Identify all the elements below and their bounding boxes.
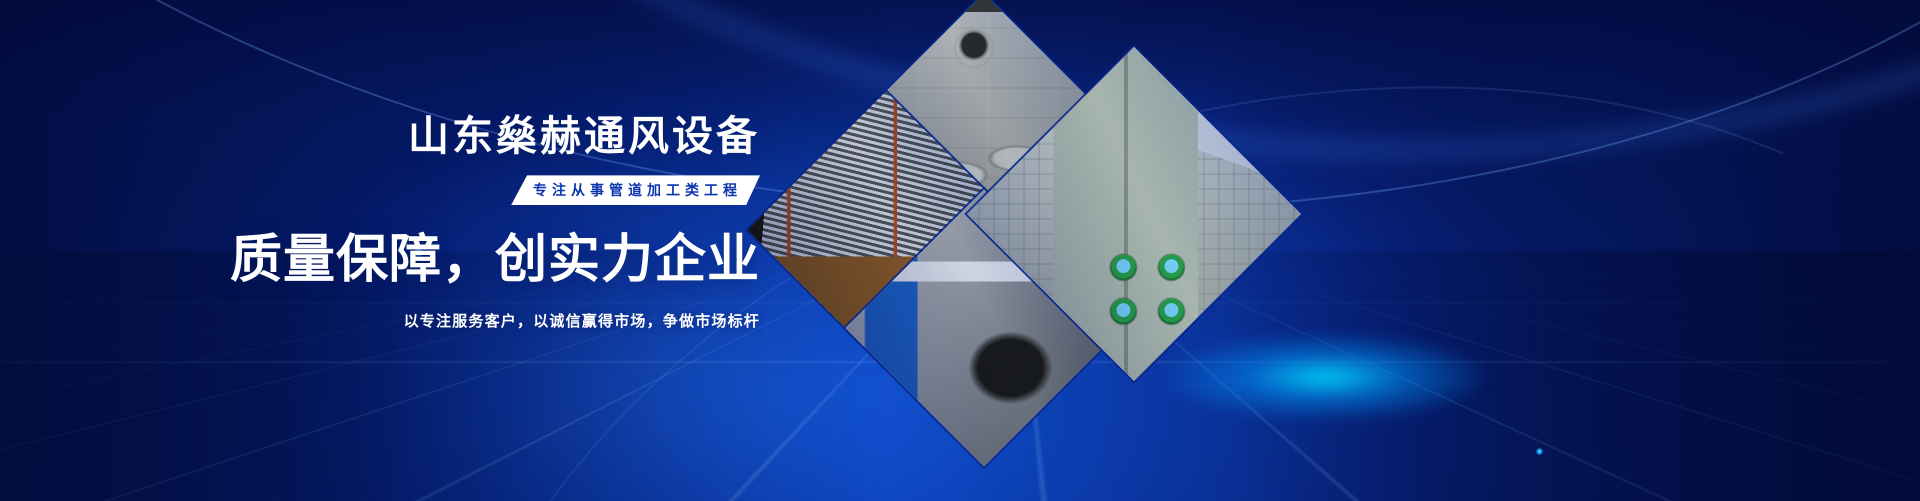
diamond-photo-collage [800,0,1320,501]
hero-banner: 山东燊赫通风设备 专注从事管道加工类工程 质量保障，创实力企业 以专注服务客户，… [0,0,1920,501]
banner-copy: 山东燊赫通风设备 专注从事管道加工类工程 质量保障，创实力企业 以专注服务客户，… [0,112,800,331]
badge-row: 专注从事管道加工类工程 [0,175,760,205]
specialty-badge: 专注从事管道加工类工程 [511,175,760,205]
specialty-badge-label: 专注从事管道加工类工程 [533,180,744,200]
main-slogan: 质量保障，创实力企业 [0,231,760,289]
sub-tagline: 以专注服务客户，以诚信赢得市场，争做市场标杆 [0,310,760,331]
company-title: 山东燊赫通风设备 [0,112,760,160]
